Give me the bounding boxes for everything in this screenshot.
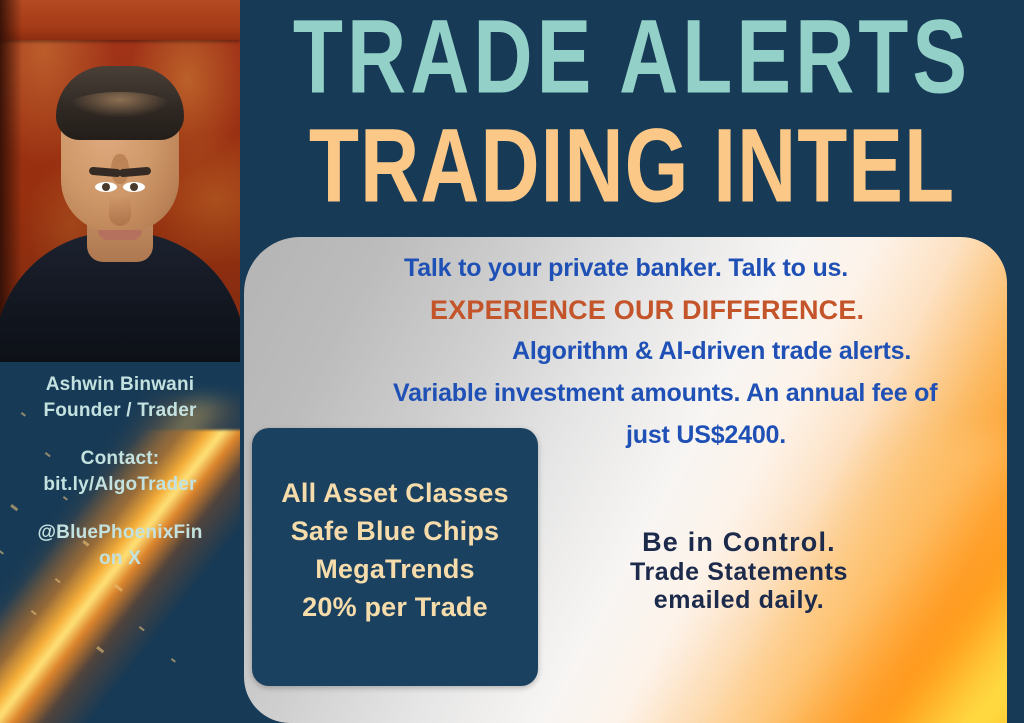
control-line-1: Be in Control. (574, 527, 904, 558)
poster-canvas: Ashwin Binwani Founder / Trader Contact:… (0, 0, 1024, 723)
contact-label: Contact: (0, 446, 240, 472)
portrait-photo (0, 0, 240, 362)
person-figure (0, 56, 240, 362)
eye-right (95, 182, 117, 192)
panel-line-4: Variable investment amounts. An annual f… (393, 379, 937, 408)
panel-line-3: Algorithm & AI-driven trade alerts. (512, 337, 911, 366)
list-item: MegaTrends (252, 550, 538, 588)
contact-link[interactable]: bit.ly/AlgoTrader (0, 472, 240, 498)
eyebrow-right (89, 167, 122, 178)
list-item: Safe Blue Chips (252, 512, 538, 550)
headline: TRADE ALERTS TRADING INTEL (248, 8, 1016, 195)
control-line-3: emailed daily. (574, 586, 904, 614)
author-block: Ashwin Binwani Founder / Trader (0, 372, 240, 424)
nose (109, 196, 131, 226)
author-name: Ashwin Binwani (0, 372, 240, 398)
panel-line-1: Talk to your private banker. Talk to us. (404, 254, 848, 283)
sidebar-captions: Ashwin Binwani Founder / Trader Contact:… (0, 372, 240, 594)
list-item: All Asset Classes (252, 474, 538, 512)
features-list: All Asset Classes Safe Blue Chips MegaTr… (252, 474, 538, 626)
social-handle[interactable]: @BluePhoenixFin (0, 520, 240, 546)
panel-line-2-highlight: EXPERIENCE OUR DIFFERENCE. (430, 295, 864, 326)
hair (56, 66, 184, 140)
features-box: All Asset Classes Safe Blue Chips MegaTr… (252, 428, 538, 686)
lacquer-top-band (0, 0, 240, 40)
social-block: @BluePhoenixFin on X (0, 520, 240, 572)
mouth (98, 230, 142, 240)
headline-line-1: TRADE ALERTS (248, 8, 1016, 109)
control-line-2: Trade Statements (574, 558, 904, 586)
social-platform: on X (0, 546, 240, 572)
be-in-control-block: Be in Control. Trade Statements emailed … (574, 527, 904, 614)
contact-block: Contact: bit.ly/AlgoTrader (0, 446, 240, 498)
panel-line-5: just US$2400. (626, 421, 786, 450)
eye-left (123, 182, 145, 192)
eyebrow-left (119, 167, 152, 178)
headline-line-2: TRADING INTEL (248, 117, 1016, 218)
author-role: Founder / Trader (0, 398, 240, 424)
left-sidebar: Ashwin Binwani Founder / Trader Contact:… (0, 0, 240, 723)
list-item: 20% per Trade (252, 588, 538, 626)
